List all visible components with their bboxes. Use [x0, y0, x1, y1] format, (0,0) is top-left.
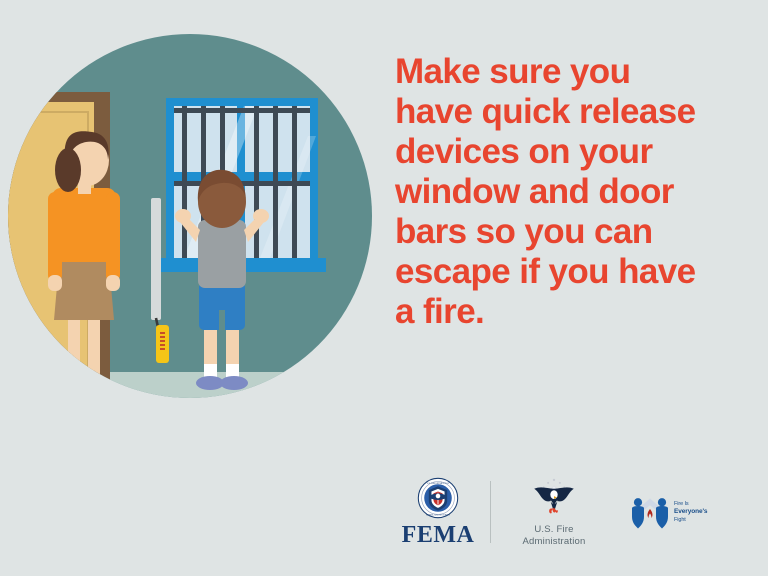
woman-leg-right	[88, 318, 100, 380]
fief-person-right-head	[658, 498, 666, 506]
fief-person-left-body	[632, 506, 644, 529]
fief-person-right-body	[656, 506, 668, 529]
boy-hand-left	[175, 209, 191, 223]
woman-hand-right	[106, 275, 120, 291]
floor	[8, 372, 372, 412]
usfa-eagle-icon	[528, 477, 580, 521]
fief-line3: Fight	[674, 517, 686, 523]
woman-shoe-right	[83, 376, 109, 388]
flames	[549, 507, 558, 513]
headline: Make sure you have quick release devices…	[395, 52, 735, 332]
logo-strip: U.S. DEPARTMENT OF HOMELAND SECURITY FEM…	[388, 470, 760, 554]
dhs-seal-icon: U.S. DEPARTMENT OF HOMELAND SECURITY	[417, 477, 459, 519]
woman-arm-right	[106, 192, 120, 282]
illustration-scene	[8, 20, 372, 412]
fief-line1: Fire Is	[674, 501, 689, 507]
svg-text:HOMELAND SECURITY: HOMELAND SECURITY	[426, 514, 450, 517]
usfa-wordmark: U.S. Fire Administration	[523, 524, 586, 548]
illustration	[8, 20, 372, 412]
woman-arm-left	[48, 192, 62, 282]
boy-hand-right	[253, 209, 269, 223]
boy-shoe-right	[220, 376, 248, 390]
fief-line2: Everyone's	[674, 508, 707, 515]
woman-hair-ponytail	[55, 148, 81, 192]
boy-shoe-left	[196, 376, 224, 390]
woman-skirt	[54, 252, 114, 320]
fire-is-everyones-fight-mark-icon	[629, 492, 671, 532]
fief-flame	[648, 509, 653, 518]
woman-hand-left	[48, 275, 62, 291]
fema-logo: U.S. DEPARTMENT OF HOMELAND SECURITY FEM…	[388, 477, 488, 547]
poster-canvas: Make sure you have quick release devices…	[0, 0, 768, 576]
boy-shirt	[198, 220, 246, 288]
fief-person-left-head	[634, 498, 642, 506]
scene-group	[8, 20, 372, 412]
release-pole	[151, 198, 161, 320]
boy-shorts-gap	[219, 310, 225, 332]
logo-divider	[490, 481, 491, 543]
fief-logo: Fire IsEveryone'sFight	[629, 492, 707, 532]
usfa-logo: U.S. Fire Administration	[501, 477, 607, 548]
woman-shoe-left	[61, 376, 87, 388]
svg-text:U.S. DEPARTMENT OF: U.S. DEPARTMENT OF	[427, 482, 450, 485]
woman-leg-left	[68, 318, 80, 380]
fema-wordmark: FEMA	[402, 523, 475, 547]
fief-wordmark: Fire IsEveryone'sFight	[674, 500, 707, 525]
